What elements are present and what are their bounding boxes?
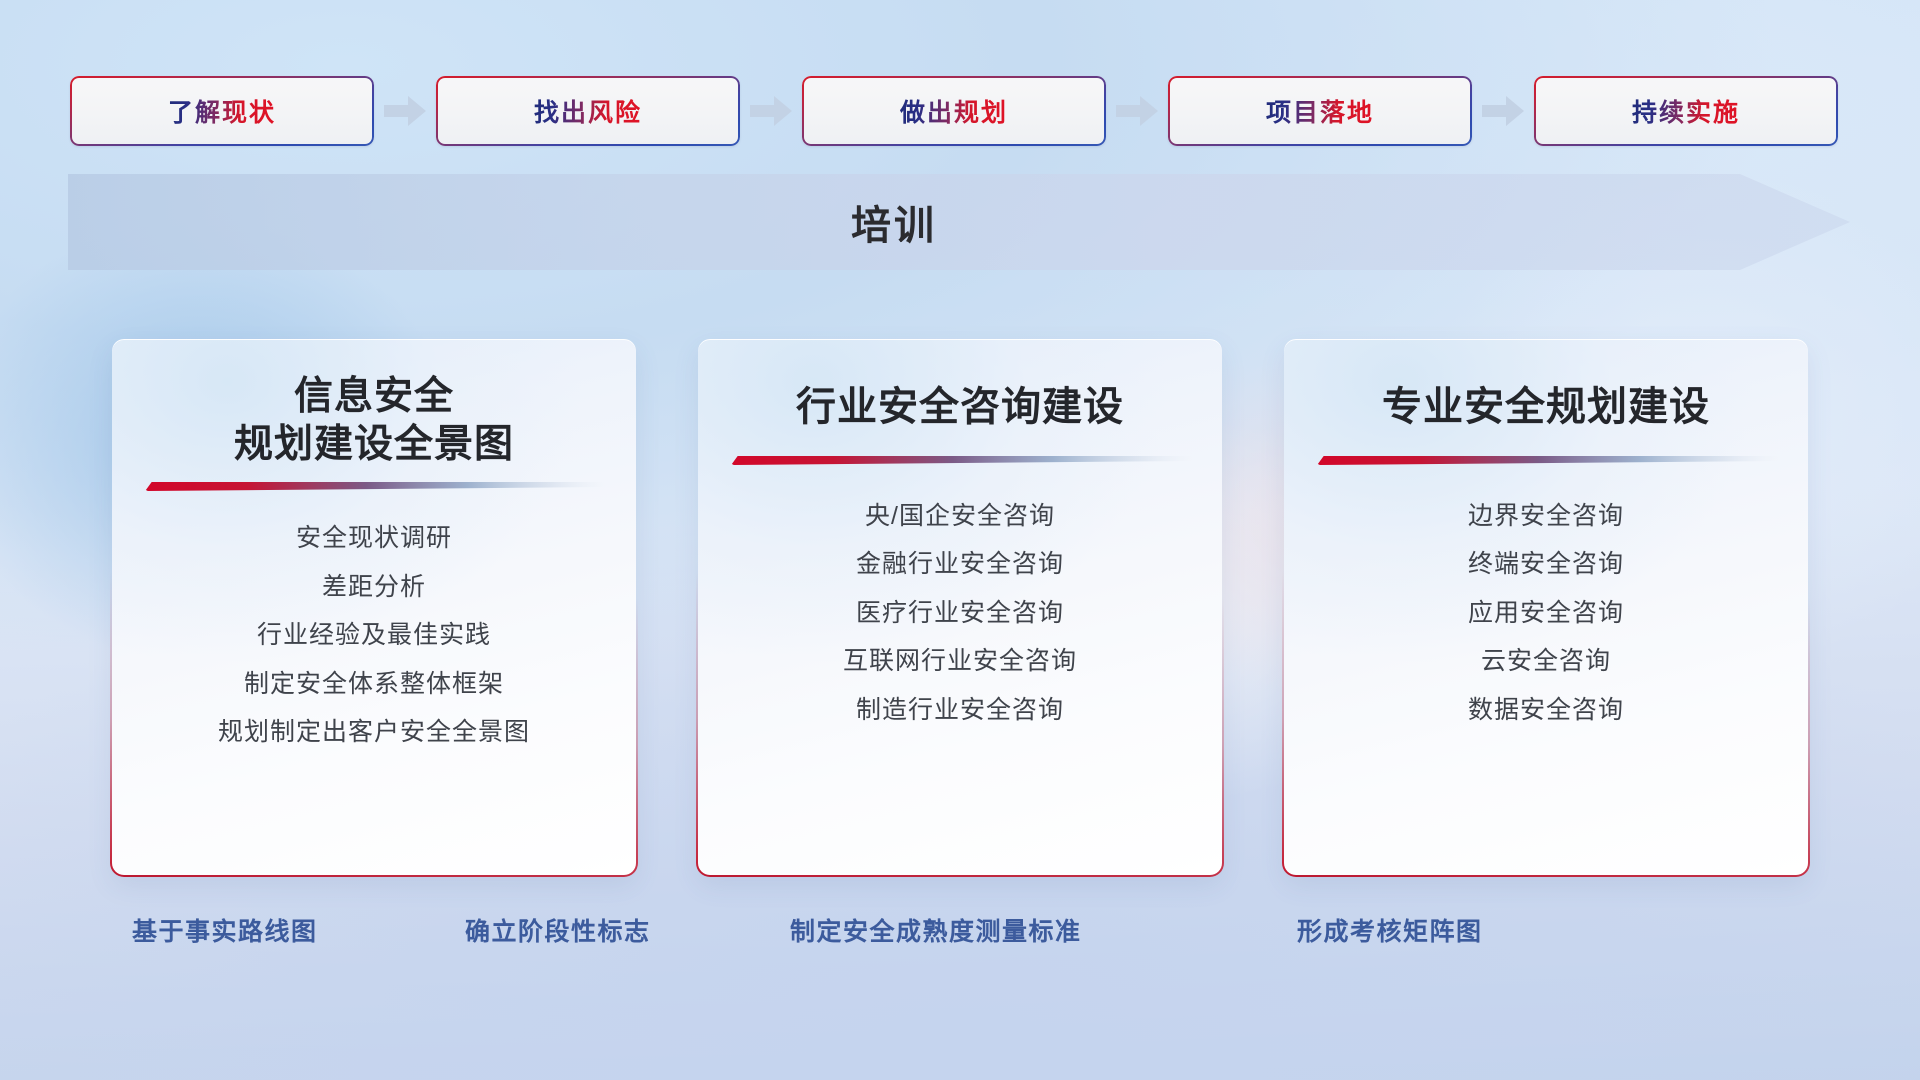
caption-maturity-scale: 制定安全成熟度测量标准	[790, 912, 1082, 948]
list-item: 云安全咨询	[1481, 641, 1611, 682]
process-steps: 了解现状 找出风险 做出规划 项目落地 持续实施	[70, 76, 1850, 146]
caption-milestones: 确立阶段性标志	[465, 912, 651, 948]
step-chip-4[interactable]: 项目落地	[1168, 76, 1472, 146]
list-item: 应用安全咨询	[1468, 593, 1624, 634]
list-item: 差距分析	[322, 567, 426, 608]
card-group: 信息安全 规划建设全景图	[110, 337, 1810, 877]
card-title: 专业安全规划建设	[1382, 383, 1710, 432]
list-item: 金融行业安全咨询	[856, 544, 1064, 585]
arrow-right-icon	[1106, 76, 1168, 146]
training-banner: 培训	[68, 174, 1850, 270]
arrow-right-icon	[1472, 76, 1534, 146]
card-item-list: 安全现状调研 差距分析 行业经验及最佳实践 制定安全体系整体框架 规划制定出客户…	[112, 518, 636, 753]
step-label: 项目落地	[1266, 93, 1374, 129]
list-item: 制造行业安全咨询	[856, 690, 1064, 731]
list-item: 终端安全咨询	[1468, 544, 1624, 585]
card-title: 行业安全咨询建设	[796, 383, 1124, 432]
list-item: 央/国企安全咨询	[865, 496, 1055, 537]
step-chip-3[interactable]: 做出规划	[802, 76, 1106, 146]
step-label: 做出规划	[900, 93, 1008, 129]
card-item-list: 央/国企安全咨询 金融行业安全咨询 医疗行业安全咨询 互联网行业安全咨询 制造行…	[698, 496, 1222, 731]
gradient-rule-icon	[728, 454, 1192, 466]
list-item: 制定安全体系整体框架	[244, 664, 504, 705]
gradient-rule-icon	[142, 480, 606, 492]
list-item: 边界安全咨询	[1468, 496, 1624, 537]
step-label: 持续实施	[1632, 93, 1740, 129]
card-professional-security-planning[interactable]: 专业安全规划建设	[1282, 337, 1810, 877]
list-item: 安全现状调研	[296, 518, 452, 559]
step-label: 找出风险	[534, 93, 642, 129]
caption-roadmap: 基于事实路线图	[132, 912, 318, 948]
list-item: 规划制定出客户安全全景图	[218, 712, 530, 753]
list-item: 医疗行业安全咨询	[856, 593, 1064, 634]
step-chip-2[interactable]: 找出风险	[436, 76, 740, 146]
card-title: 信息安全 规划建设全景图	[234, 373, 514, 468]
card-body: 专业安全规划建设	[1284, 339, 1808, 875]
arrow-right-icon	[740, 76, 802, 146]
card-body: 行业安全咨询建设	[698, 339, 1222, 875]
step-chip-1[interactable]: 了解现状	[70, 76, 374, 146]
card-item-list: 边界安全咨询 终端安全咨询 应用安全咨询 云安全咨询 数据安全咨询	[1284, 496, 1808, 731]
arrow-right-icon	[374, 76, 436, 146]
list-item: 行业经验及最佳实践	[257, 615, 491, 656]
banner-label: 培训	[68, 174, 1720, 270]
step-label: 了解现状	[168, 93, 276, 129]
list-item: 数据安全咨询	[1468, 690, 1624, 731]
card-info-security-panorama[interactable]: 信息安全 规划建设全景图	[110, 337, 638, 877]
step-chip-5[interactable]: 持续实施	[1534, 76, 1838, 146]
gradient-rule-icon	[1314, 454, 1778, 466]
card-industry-security-consulting[interactable]: 行业安全咨询建设	[696, 337, 1224, 877]
card-body: 信息安全 规划建设全景图	[112, 339, 636, 875]
list-item: 互联网行业安全咨询	[843, 641, 1077, 682]
caption-row: 基于事实路线图 确立阶段性标志 制定安全成熟度测量标准 形成考核矩阵图	[0, 912, 1920, 966]
caption-kpi-matrix: 形成考核矩阵图	[1297, 912, 1483, 948]
